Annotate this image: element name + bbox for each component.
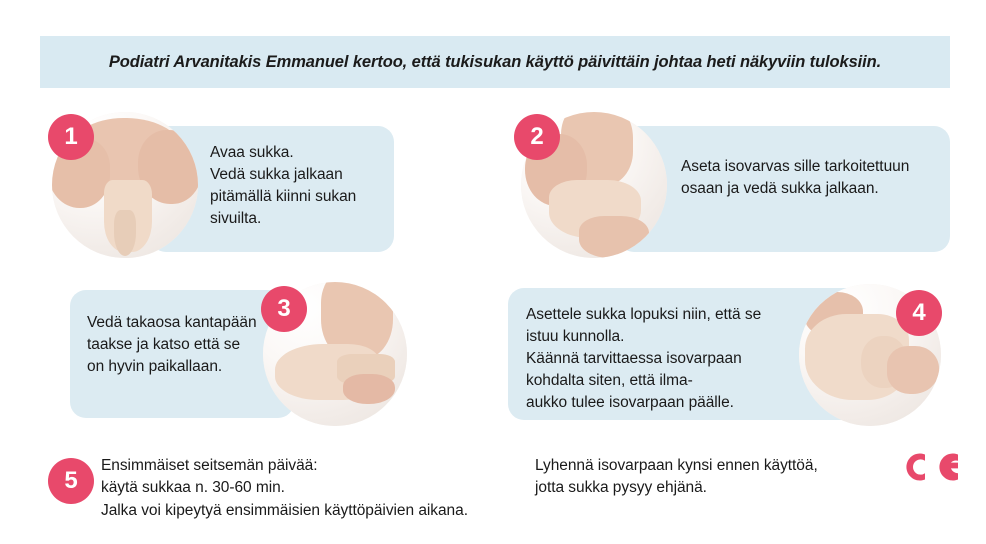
step-2-badge: 2 — [514, 114, 560, 160]
infographic-page: Podiatri Arvanitakis Emmanuel kertoo, et… — [0, 0, 986, 544]
step-2-instruction: Aseta isovarvas sille tarkoitettuun osaa… — [681, 156, 943, 200]
footer-note: Lyhennä isovarpaan kynsi ennen käyttöä, … — [535, 455, 875, 500]
step-4-badge: 4 — [896, 290, 942, 336]
step-3-instruction: Vedä takaosa kantapään taakse ja katso e… — [87, 312, 283, 378]
step-1-number: 1 — [64, 125, 77, 149]
step-2-toes-shape — [579, 216, 649, 258]
step-1-badge: 1 — [48, 114, 94, 160]
step-3-number: 3 — [277, 297, 290, 321]
step-5-number: 5 — [64, 469, 77, 493]
header-banner: Podiatri Arvanitakis Emmanuel kertoo, et… — [40, 36, 950, 88]
step-4-toes-shape — [887, 346, 939, 394]
step-2-number: 2 — [530, 125, 543, 149]
step-5-badge: 5 — [48, 458, 94, 504]
step-4-number: 4 — [912, 301, 925, 325]
ce-mark-icon — [901, 450, 963, 484]
step-3-badge: 3 — [261, 286, 307, 332]
step-1-sock-toe-shape — [114, 210, 136, 256]
header-title: Podiatri Arvanitakis Emmanuel kertoo, et… — [109, 53, 881, 72]
step-1-instruction: Avaa sukka. Vedä sukka jalkaan pitämällä… — [210, 142, 390, 230]
step-5-instruction: Ensimmäiset seitsemän päivää: käytä sukk… — [101, 455, 521, 522]
step-4-instruction: Asettele sukka lopuksi niin, että se ist… — [526, 304, 816, 414]
step-3-heel-shape — [343, 374, 395, 404]
